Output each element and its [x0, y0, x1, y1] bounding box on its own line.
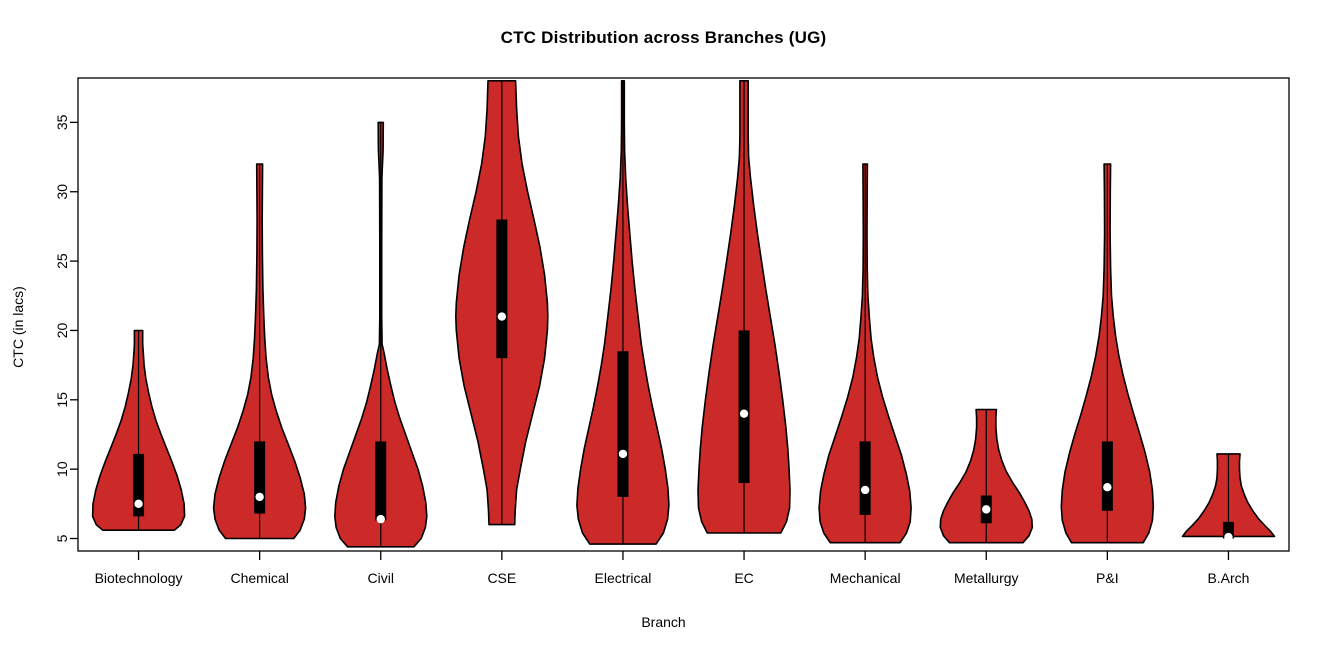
y-tick-label: 15 [54, 392, 70, 408]
x-tick-label: CSE [487, 570, 516, 586]
median-marker [255, 493, 263, 501]
iqr-box [1102, 441, 1113, 510]
chart-page: CTC Distribution across Branches (UG) CT… [0, 0, 1327, 653]
y-axis-ticks: 5101520253035 [54, 114, 78, 542]
iqr-box [860, 441, 871, 515]
x-tick-label: Mechanical [830, 570, 901, 586]
violin-plot: 5101520253035 BiotechnologyChemicalCivil… [0, 0, 1327, 653]
violin-cse [456, 81, 548, 525]
x-tick-label: Chemical [230, 570, 288, 586]
x-tick-label: B.Arch [1207, 570, 1249, 586]
y-tick-label: 10 [54, 461, 70, 477]
y-tick-label: 30 [54, 184, 70, 200]
median-marker [377, 515, 385, 523]
y-tick-label: 35 [54, 114, 70, 130]
violin-civil [335, 122, 427, 546]
median-marker [1224, 533, 1232, 541]
iqr-box [375, 441, 386, 520]
iqr-box [254, 441, 265, 513]
violin-b-arch [1183, 454, 1275, 541]
median-marker [982, 505, 990, 513]
x-tick-label: Civil [368, 570, 394, 586]
violin-chemical [214, 164, 306, 539]
median-marker [1103, 483, 1111, 491]
violin-ec [698, 81, 790, 533]
y-tick-label: 25 [54, 253, 70, 269]
x-tick-label: Metallurgy [954, 570, 1019, 586]
violins-layer [93, 81, 1275, 547]
x-tick-label: EC [734, 570, 753, 586]
violin-electrical [577, 81, 669, 544]
x-axis-ticks: BiotechnologyChemicalCivilCSEElectricalE… [95, 551, 1250, 586]
median-marker [861, 486, 869, 494]
violin-mechanical [819, 164, 911, 543]
y-tick-label: 5 [54, 534, 70, 542]
iqr-box [739, 330, 750, 483]
iqr-box [496, 219, 507, 358]
x-tick-label: Electrical [595, 570, 652, 586]
y-tick-label: 20 [54, 322, 70, 338]
x-tick-label: Biotechnology [95, 570, 183, 586]
violin-p-i [1061, 164, 1153, 543]
violin-biotechnology [93, 330, 185, 530]
median-marker [619, 450, 627, 458]
median-marker [498, 312, 506, 320]
x-tick-label: P&I [1096, 570, 1119, 586]
iqr-box [617, 351, 628, 497]
violin-metallurgy [940, 410, 1032, 543]
median-marker [740, 409, 748, 417]
median-marker [134, 500, 142, 508]
